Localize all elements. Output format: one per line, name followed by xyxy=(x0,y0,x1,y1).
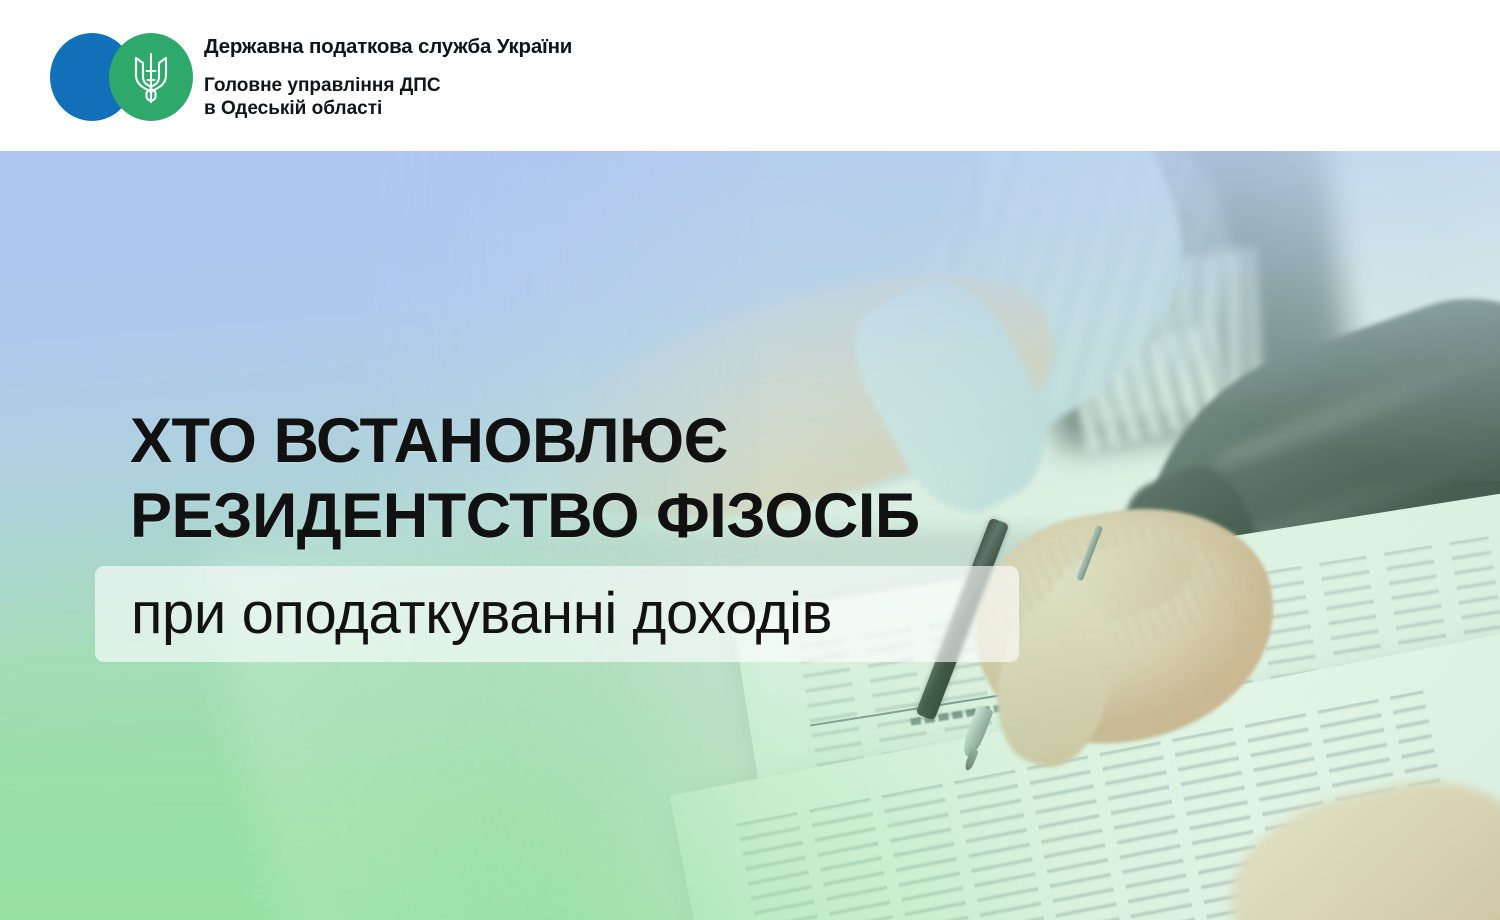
banner-title: ХТО ВСТАНОВЛЮЄ РЕЗИДЕНТСТВО ФІЗОСІБ xyxy=(130,404,920,554)
agency-logo xyxy=(50,33,195,121)
site-header: Державна податкова служба України Головн… xyxy=(0,0,1500,151)
banner-subtitle: при оподаткуванні доходів xyxy=(131,580,832,648)
department-line-1: Головне управління ДПС xyxy=(204,74,572,97)
gradient-overlay-topright xyxy=(980,151,1500,481)
department-line-2: в Одеській області xyxy=(204,97,572,120)
banner-title-line-2: РЕЗИДЕНТСТВО ФІЗОСІБ xyxy=(130,479,920,554)
banner-title-line-1: ХТО ВСТАНОВЛЮЄ xyxy=(130,404,920,479)
poster-banner: Державна податкова служба України Головн… xyxy=(0,0,1500,920)
agency-title-block: Державна податкова служба України Головн… xyxy=(204,36,572,120)
ukraine-trident-icon xyxy=(130,50,172,103)
agency-department: Головне управління ДПС в Одеській област… xyxy=(204,74,572,120)
agency-name: Державна податкова служба України xyxy=(204,36,572,59)
